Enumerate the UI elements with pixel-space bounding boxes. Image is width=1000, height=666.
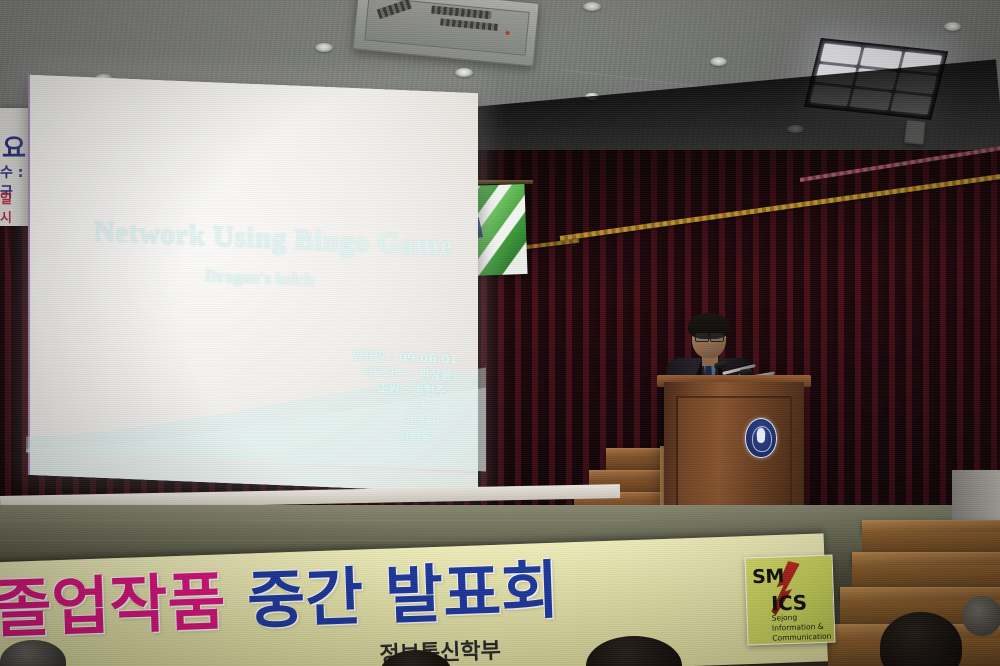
poster-red-text: 일 시 [0, 188, 28, 226]
floor-plank-line [0, 540, 600, 541]
glasses-lens-right [710, 333, 724, 342]
recessed-light [710, 57, 727, 66]
auditorium-photo: 요 수 : 국 일 시 Network Using Bingo Game Dra… [0, 0, 1000, 666]
crest-shield [757, 433, 765, 443]
poster-blue-text: 요 [2, 128, 26, 165]
recessed-light [315, 43, 333, 52]
banner-headline-pink: 졸업작품 [0, 565, 227, 646]
left-poster-fragment: 요 수 : 국 일 시 [0, 108, 28, 226]
audience-head [962, 596, 1000, 636]
recessed-light [455, 68, 473, 77]
banner-headline: 졸업작품 중간 발표회 [0, 554, 694, 641]
logo-top-text: SM [752, 565, 784, 588]
recessed-light [583, 2, 601, 11]
university-crest-icon [745, 418, 777, 458]
wooden-stair-riser [862, 532, 1000, 554]
wooden-stair-riser [852, 565, 1000, 589]
floor-plank-line [0, 520, 640, 521]
banner-headline-blue: 중간 발표회 [224, 554, 560, 639]
glasses-bridge [707, 336, 710, 338]
recessed-light [944, 22, 961, 31]
wooden-stair-tread [852, 552, 1000, 566]
smics-logo: SM ICS Sejong Information & Communicatio… [744, 554, 835, 645]
lamp-cell [860, 48, 902, 70]
lamp-cell [820, 43, 862, 65]
logo-tagline: Sejong Information & Communication Socie… [771, 612, 830, 646]
projection-screen: Network Using Bingo Game Dragon's belch … [28, 75, 478, 493]
